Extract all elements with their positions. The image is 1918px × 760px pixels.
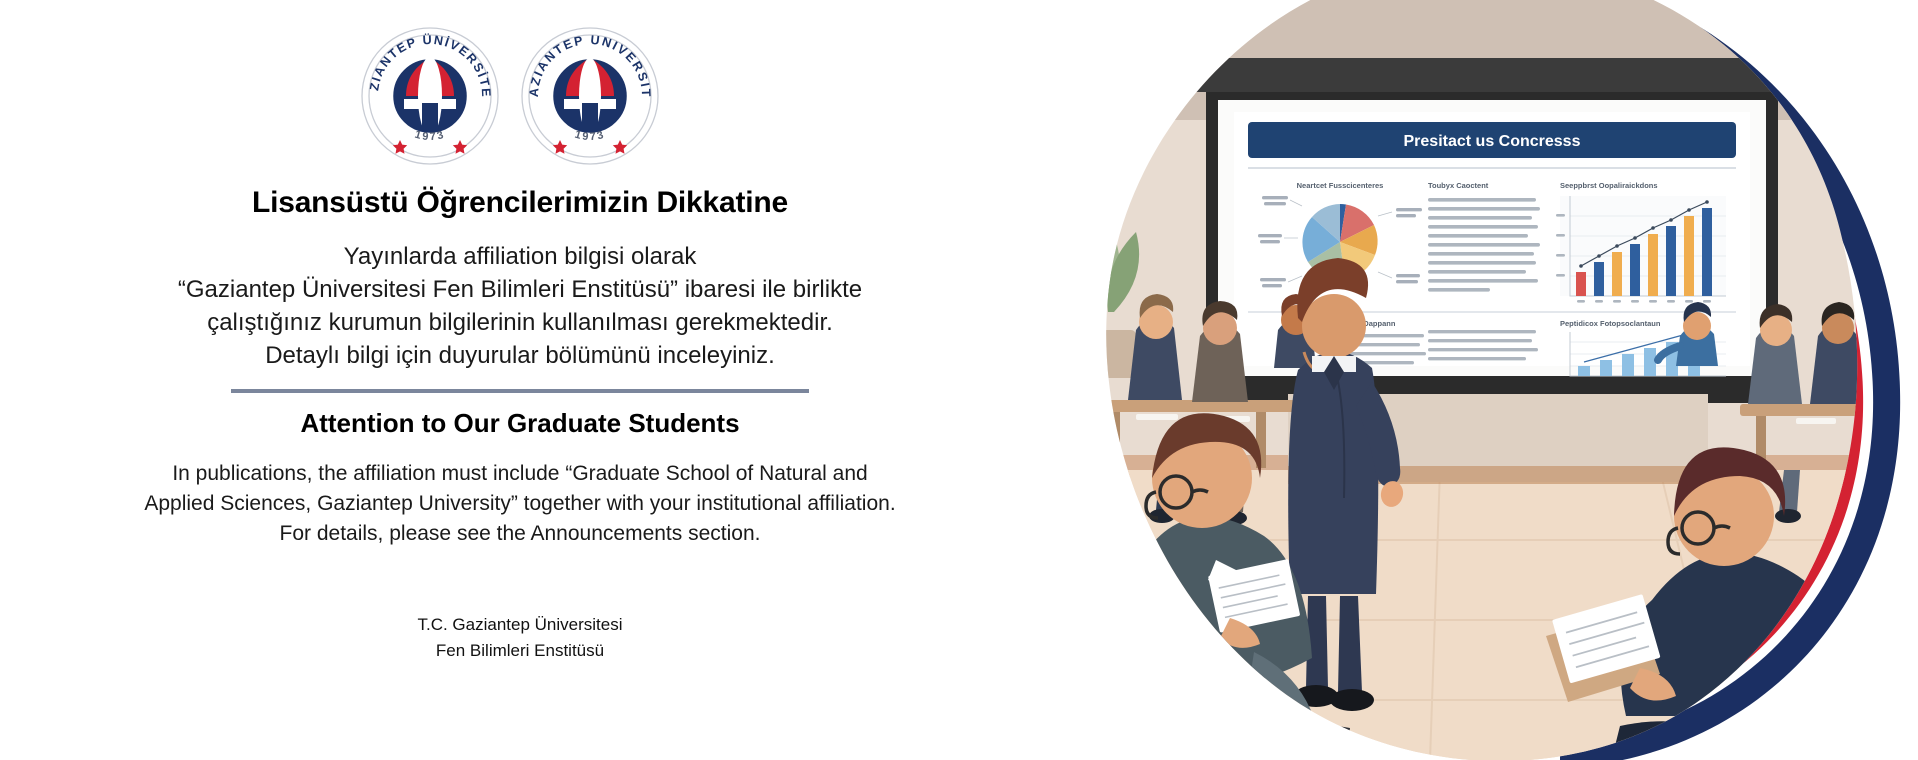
section-divider xyxy=(231,389,809,393)
projection-screen: Presitact us Concresss Neartcet Fusscice… xyxy=(1200,92,1788,403)
poster-section-5-heading: Peptidicox Fotopsoclantaun xyxy=(1560,319,1661,328)
turkish-line-4: Detaylı bilgi için duyurular bölümünü in… xyxy=(178,339,862,372)
turkish-line-1: Yayınlarda affiliation bilgisi olarak xyxy=(178,240,862,273)
footer-line-2: Fen Bilimleri Enstitüsü xyxy=(417,638,622,664)
english-body: In publications, the affiliation must in… xyxy=(144,459,895,549)
turkish-line-2: “Gaziantep Üniversitesi Fen Bilimleri En… xyxy=(178,273,862,306)
poster-section-3-heading: Seeppbrst Oopaliraickdons xyxy=(1560,181,1658,190)
english-heading: Attention to Our Graduate Students xyxy=(300,408,739,439)
poster-section-1-heading: Neartcet Fusscicenteres xyxy=(1297,181,1384,190)
poster-bar-chart-1 xyxy=(1556,196,1726,303)
turkish-heading: Lisansüstü Öğrencilerimizin Dikkatine xyxy=(252,186,788,220)
footer-line-1: T.C. Gaziantep Üniversitesi xyxy=(417,612,622,638)
english-line-3: For details, please see the Announcement… xyxy=(144,519,895,549)
english-line-1: In publications, the affiliation must in… xyxy=(144,459,895,489)
gaziantep-university-seal-icon: GAZIANTEP UNIVERSITY 1973 xyxy=(520,26,660,166)
ceiling-beam xyxy=(1040,58,1918,92)
footer-block: T.C. Gaziantep Üniversitesi Fen Bilimler… xyxy=(417,612,622,664)
announcement-page: GAZIANTEP ÜNİVERSİTESİ 1973 xyxy=(0,0,1918,760)
logo-row: GAZIANTEP ÜNİVERSİTESİ 1973 xyxy=(360,26,660,166)
poster-section-2-heading: Toubyx Caoctent xyxy=(1428,181,1489,190)
gaziantep-universitesi-seal-icon: GAZIANTEP ÜNİVERSİTESİ 1973 xyxy=(360,26,500,166)
turkish-line-3: çalıştığınız kurumun bilgilerinin kullan… xyxy=(178,306,862,339)
conference-scene-svg: Presitact us Concresss Neartcet Fusscice… xyxy=(1040,0,1918,760)
turkish-body: Yayınlarda affiliation bilgisi olarak “G… xyxy=(178,240,862,372)
conference-illustration: Presitact us Concresss Neartcet Fusscice… xyxy=(1040,0,1918,760)
poster-title: Presitact us Concresss xyxy=(1404,133,1581,150)
english-line-2: Applied Sciences, Gaziantep University” … xyxy=(144,489,895,519)
text-panel: GAZIANTEP ÜNİVERSİTESİ 1973 xyxy=(0,0,1040,760)
